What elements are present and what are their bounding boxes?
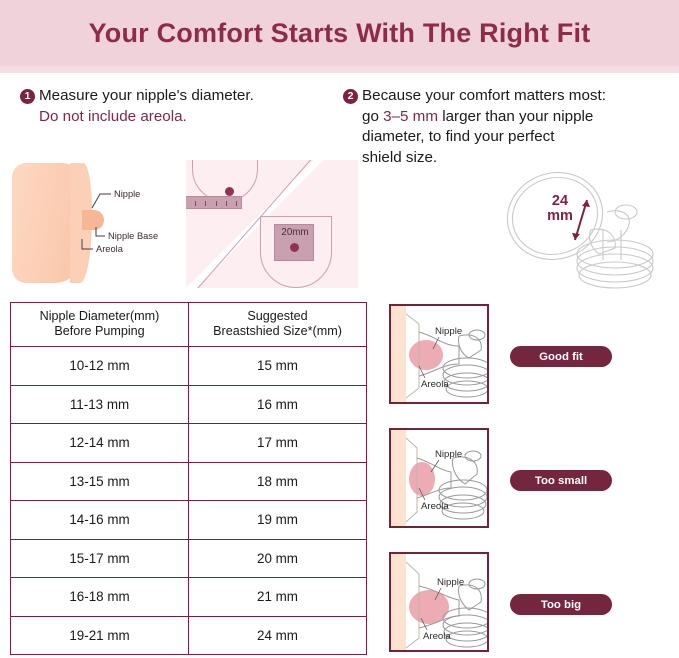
table-header-diameter-line2: Before Pumping [54,324,144,338]
table-row: 12-14 mm 17 mm [11,424,367,463]
table-header-row: Nipple Diameter(mm) Before Pumping Sugge… [11,303,367,347]
cell-size: 21 mm [189,578,367,617]
breast-shield-illustration: 24 mm [495,168,673,290]
fit-label-areola: Areola [423,631,451,642]
fit-example-good: Nipple Areola Good fit [389,304,675,410]
cell-size: 15 mm [189,347,367,386]
breast-shield-drawing [495,168,673,290]
cell-size: 18 mm [189,462,367,501]
fit-status-badge: Good fit [510,346,612,367]
table-header-size-line2: Breastshied Size*(mm) [213,324,342,338]
cell-diameter: 14-16 mm [11,501,189,540]
cell-size: 20 mm [189,539,367,578]
step-1-text: 1Measure your nipple's diameter. Do not … [20,86,340,127]
step-2-line-4: shield size. [343,148,673,169]
fit-status-badge: Too small [510,470,612,491]
cell-diameter: 13-15 mm [11,462,189,501]
fit-diagram-drawing [391,430,489,528]
cell-diameter: 10-12 mm [11,347,189,386]
table-row: 11-13 mm 16 mm [11,385,367,424]
step-2-line-1: Because your comfort matters most: [362,87,606,104]
fit-diagram-box: Nipple Areola [389,304,489,404]
step-2-line-3: diameter, to find your perfect [343,127,673,148]
table-row: 16-18 mm 21 mm [11,578,367,617]
fit-diagram-box: Nipple Areola [389,428,489,528]
cell-size: 17 mm [189,424,367,463]
anatomy-label-nipple-base: Nipple Base [108,231,158,241]
step-2-line-2-prefix: go [362,108,383,125]
measurement-illustration: 20mm [186,160,358,288]
fit-label-nipple: Nipple [435,326,462,337]
cell-diameter: 15-17 mm [11,539,189,578]
step-2-text: 2Because your comfort matters most: go 3… [343,86,673,168]
cell-diameter: 16-18 mm [11,578,189,617]
fit-diagram-box: Nipple Areola [389,552,489,652]
fit-label-areola: Areola [421,379,449,390]
cell-diameter: 19-21 mm [11,616,189,655]
cell-size: 24 mm [189,616,367,655]
fit-label-areola: Areola [421,501,449,512]
anatomy-label-areola: Areola [96,244,123,254]
header-band-underline [0,66,679,73]
shield-size-label: 24 mm [543,194,577,224]
shield-size-value: 24 [543,194,577,209]
anatomy-leader-lines [12,163,180,283]
anatomy-illustration: Nipple Nipple Base Areola [12,163,180,283]
anatomy-label-nipple: Nipple [114,189,140,199]
panel-divider-line [186,160,358,288]
table-row: 19-21 mm 24 mm [11,616,367,655]
table-row: 15-17 mm 20 mm [11,539,367,578]
table-row: 10-12 mm 15 mm [11,347,367,386]
step-2-number: 2 [343,89,358,104]
size-chart-table: Nipple Diameter(mm) Before Pumping Sugge… [10,302,367,655]
step-2-line-2: go 3–5 mm larger than your nipple [343,107,673,128]
fit-label-nipple: Nipple [435,449,462,460]
step-1-number: 1 [20,89,35,104]
step-2-size-range: 3–5 mm [383,108,438,125]
shield-size-unit: mm [543,209,577,224]
table-header-size-line1: Suggested [247,309,307,323]
cell-size: 19 mm [189,501,367,540]
table-header-diameter-line1: Nipple Diameter(mm) [40,309,160,323]
fit-label-nipple: Nipple [437,577,464,588]
fit-status-badge: Too big [510,594,612,615]
cell-diameter: 11-13 mm [11,385,189,424]
cell-diameter: 12-14 mm [11,424,189,463]
step-1-line-1: Measure your nipple's diameter. [39,87,254,104]
fit-example-too-small: Nipple Areola Too small [389,428,675,534]
step-1-line-2: Do not include areola. [20,107,340,128]
table-header-size: Suggested Breastshied Size*(mm) [189,303,367,347]
table-row: 14-16 mm 19 mm [11,501,367,540]
table-header-diameter: Nipple Diameter(mm) Before Pumping [11,303,189,347]
cell-size: 16 mm [189,385,367,424]
table-row: 13-15 mm 18 mm [11,462,367,501]
step-2-line-2-suffix: larger than your nipple [438,108,593,125]
fit-example-too-big: Nipple Areola Too big [389,552,675,658]
page-title: Your Comfort Starts With The Right Fit [0,0,679,66]
